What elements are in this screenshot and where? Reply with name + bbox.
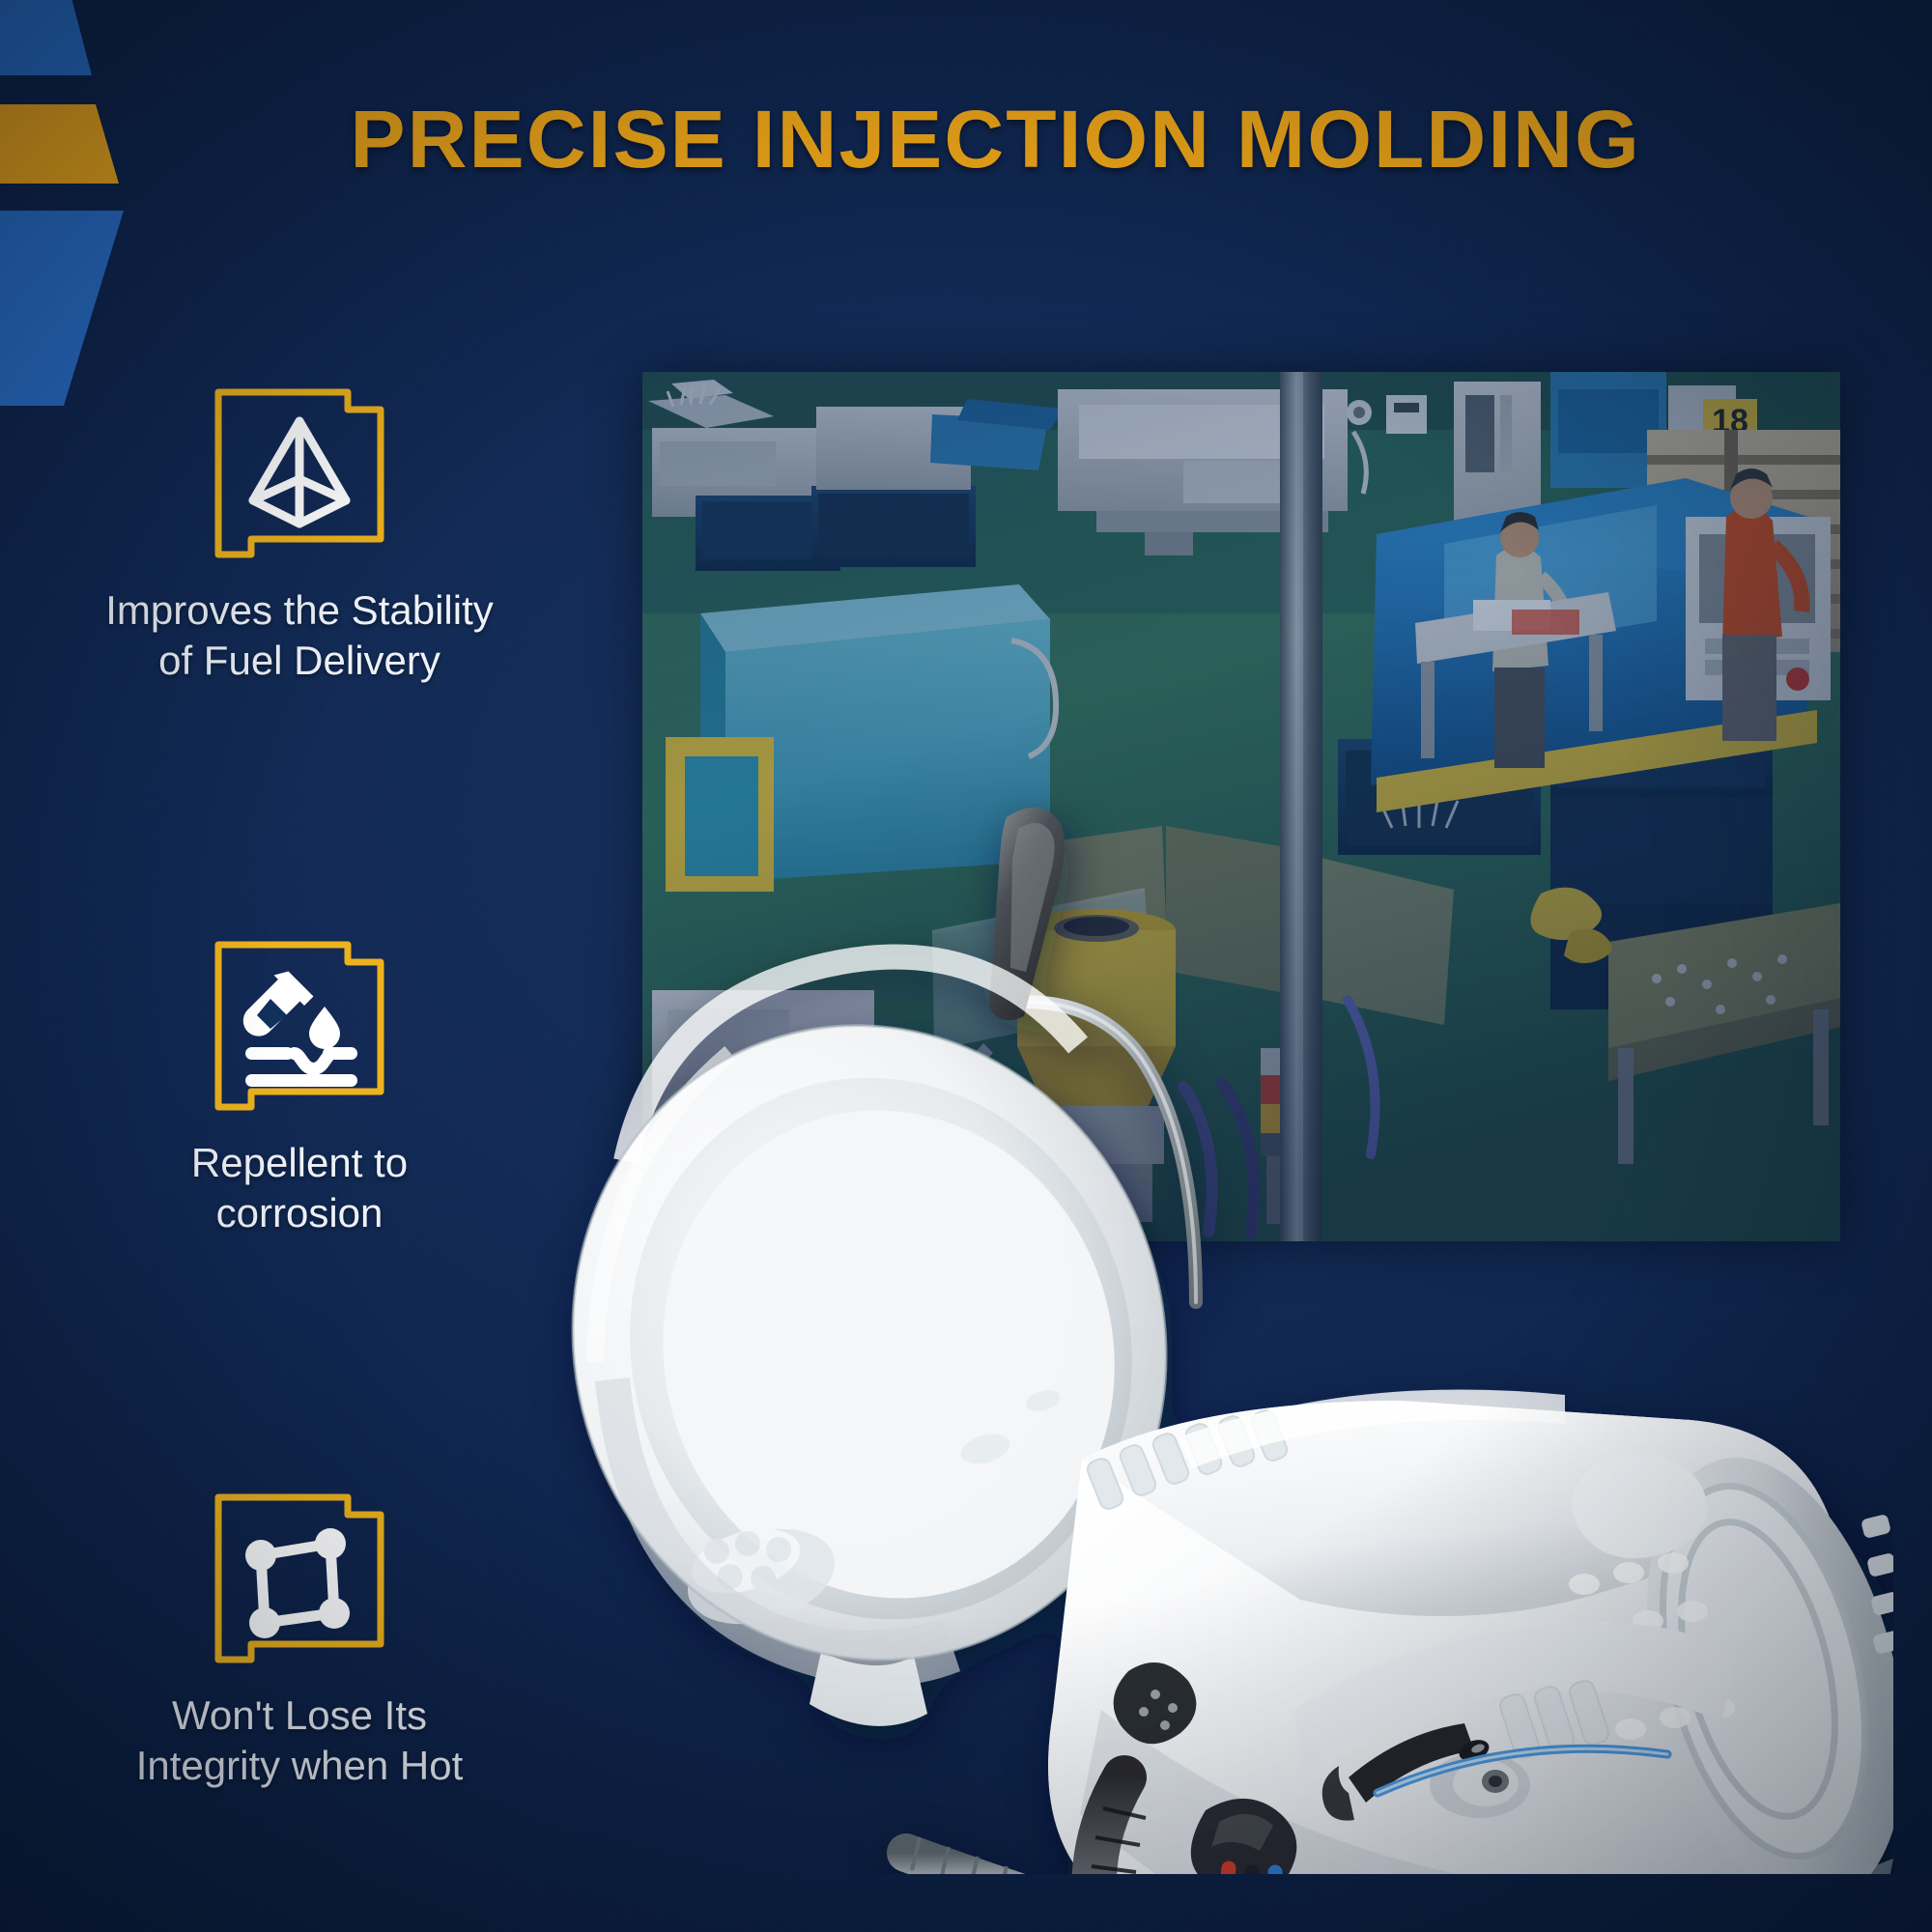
page-vignette	[0, 0, 1932, 1932]
